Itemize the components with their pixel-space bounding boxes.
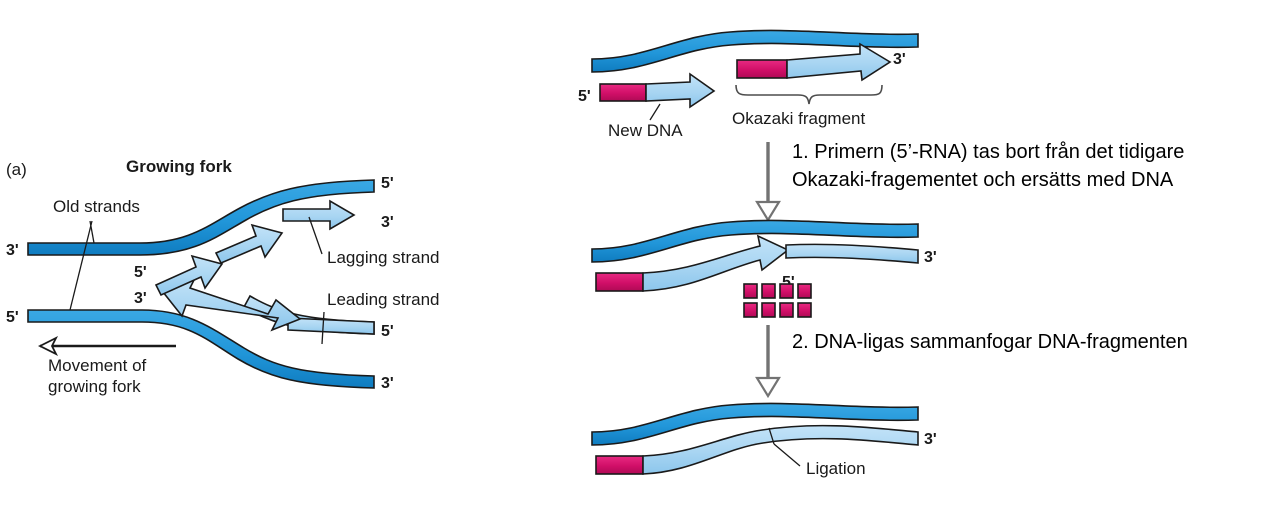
lagging-strand-label: Lagging strand — [327, 248, 439, 267]
ligation-leader — [774, 444, 800, 466]
old-strands-leader-bottom — [70, 221, 92, 310]
nucleotide-square — [780, 303, 793, 317]
stage-1-okazaki-fragments: 5' 3' New DNA Okazaki fragment — [578, 30, 918, 140]
label-3prime-lagging-right: 3' — [381, 214, 394, 231]
new-dna-label: New DNA — [608, 121, 683, 140]
stage1-label-5prime: 5' — [578, 88, 591, 105]
step-note-1-line1: 1. Primern (5’-RNA) tas bort från det ti… — [792, 141, 1184, 163]
old-strands-label: Old strands — [53, 197, 140, 216]
stage1-primer-left — [600, 84, 646, 101]
lagging-strand-leader — [309, 217, 322, 254]
nucleotide-square — [744, 303, 757, 317]
stage2-right-fragment — [786, 244, 918, 263]
panel-b: 5' 3' New DNA Okazaki fragment 1. Primer… — [578, 30, 1188, 478]
stage3-label-3prime: 3' — [924, 431, 937, 448]
leading-strand-new-tail — [288, 318, 374, 334]
stage-2-primer-replaced: 3' 5' — [592, 220, 937, 317]
nucleotide-square — [762, 284, 775, 298]
step-arrow-1 — [757, 142, 779, 220]
okazaki-arrow-3 — [283, 201, 354, 229]
panel-a: (a) Growing fork 3' 5' 5' 3' 5' 3 — [6, 157, 439, 396]
label-5prime-fork-lagging: 5' — [134, 264, 147, 281]
fork-movement-arrow — [40, 338, 176, 354]
dna-replication-diagram: (a) Growing fork 3' 5' 5' 3' 5' 3 — [0, 0, 1270, 522]
nucleotide-square — [744, 284, 757, 298]
movement-label-line2: growing fork — [48, 377, 141, 396]
stage1-okazaki-arrow-right — [787, 44, 890, 80]
stage2-primer-left — [596, 273, 643, 291]
stage2-label-3prime: 3' — [924, 249, 937, 266]
step-note-1-line2: Okazaki-fragementet och ersätts med DNA — [792, 169, 1174, 191]
label-5prime-leading-right: 5' — [381, 323, 394, 340]
panel-a-label: (a) — [6, 160, 27, 179]
stage1-primer-right — [737, 60, 787, 78]
figure-root: (a) Growing fork 3' 5' 5' 3' 5' 3 — [0, 0, 1270, 522]
label-3prime-bottom-right: 3' — [381, 375, 394, 392]
stage1-label-3prime: 3' — [893, 51, 906, 68]
nucleotide-square — [798, 303, 811, 317]
step-note-2-line1: 2. DNA-ligas sammanfogar DNA-fragmenten — [792, 331, 1188, 353]
label-3prime-fork-leading: 3' — [134, 290, 147, 307]
step-arrow-2 — [757, 325, 779, 396]
ligation-label: Ligation — [806, 459, 866, 478]
new-dna-leader — [650, 104, 660, 120]
label-5prime-top-right: 5' — [381, 175, 394, 192]
nucleotide-square — [762, 303, 775, 317]
okazaki-fragment-label: Okazaki fragment — [732, 109, 865, 128]
movement-label-line1: Movement of — [48, 356, 147, 375]
okazaki-fragment-brace — [736, 85, 882, 104]
stage-3-ligated-strand: 3' Ligation — [592, 403, 937, 478]
nucleotide-square — [798, 284, 811, 298]
panel-a-title: Growing fork — [126, 157, 232, 176]
leading-strand-label: Leading strand — [327, 290, 439, 309]
stage3-primer-left — [596, 456, 643, 474]
nucleotide-square — [780, 284, 793, 298]
dna-nucleotide-block — [744, 284, 811, 317]
label-5prime-bottom-left: 5' — [6, 309, 19, 326]
label-3prime-top-left: 3' — [6, 242, 19, 259]
stage1-new-dna-arrow-left — [646, 74, 714, 107]
